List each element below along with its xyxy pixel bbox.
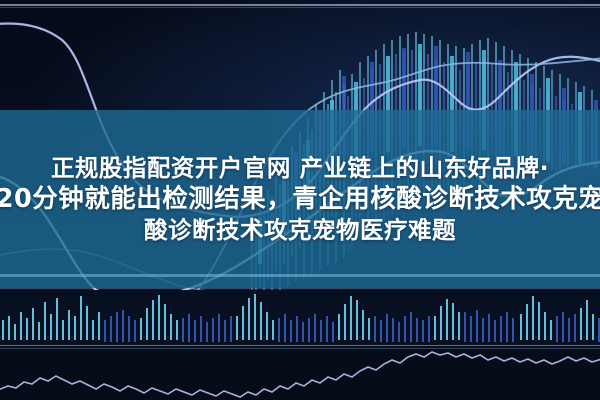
indicator-line-svg — [0, 348, 600, 400]
headline-text-block: 正规股指配资开户官网 产业链上的山东好品牌· 20分钟就能出检测结果，青企用核酸… — [0, 110, 600, 288]
news-banner-image: 正规股指配资开户官网 产业链上的山东好品牌· 20分钟就能出检测结果，青企用核酸… — [0, 0, 600, 400]
chart-top-rule-2 — [0, 7, 600, 8]
headline-line-2: 20分钟就能出检测结果，青企用核酸诊断技术攻克宠 — [0, 185, 600, 214]
indicator-line-panel — [0, 348, 600, 400]
lower-panel-rule — [0, 345, 600, 346]
headline-line-1: 正规股指配资开户官网 产业链上的山东好品牌· — [51, 155, 549, 181]
volume-panel-rule — [0, 288, 600, 289]
chart-top-rule — [0, 4, 600, 6]
volume-histogram-panel — [0, 290, 600, 348]
indicator-line-path — [0, 352, 600, 397]
lower-panel-rule-2 — [0, 348, 600, 349]
headline-line-3: 酸诊断技术攻克宠物医疗难题 — [144, 217, 456, 243]
volume-histogram-svg — [0, 290, 600, 348]
